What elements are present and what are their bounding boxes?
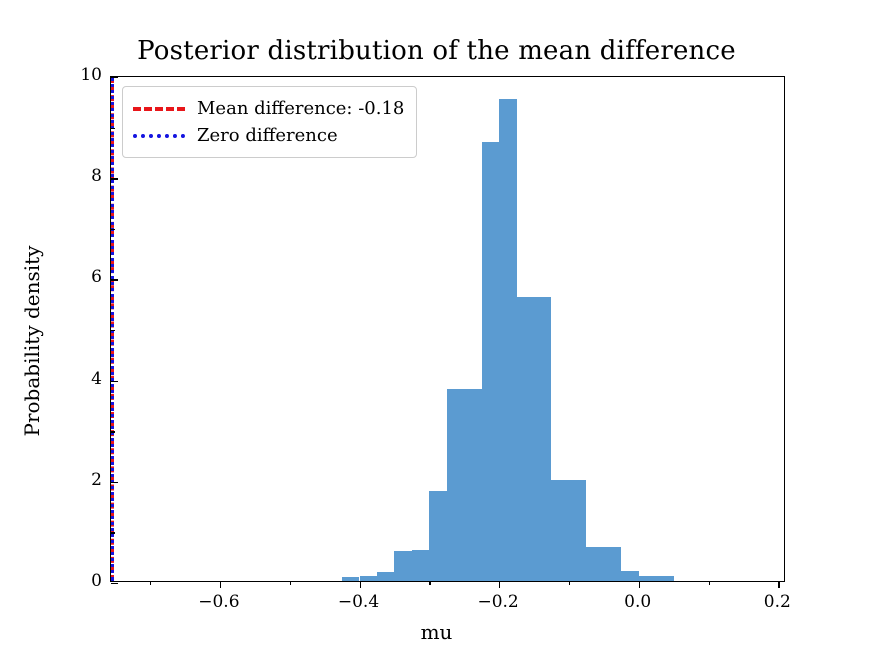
figure-canvas: Posterior distribution of the mean diffe… [0,0,873,653]
y-tick-mark [111,178,118,179]
x-minor-tick-mark [429,581,430,585]
histogram-bar [360,576,377,581]
y-tick-mark [111,583,118,584]
x-tick-label: −0.2 [458,592,538,612]
histogram-bar [534,297,551,581]
histogram-bar [464,389,481,581]
x-minor-tick-mark [569,581,570,585]
histogram-bar [586,547,603,581]
x-minor-tick-mark [709,581,710,585]
histogram-bar [656,576,673,581]
histogram-bar [342,577,359,581]
y-tick-label: 8 [66,166,102,186]
histogram-bar [569,480,586,581]
x-tick-label: 0.2 [737,592,817,612]
histogram-bar [517,297,534,581]
legend-item-label: Zero difference [197,125,338,146]
histogram-bar [377,572,394,581]
histogram-bar [412,550,429,581]
histogram-bar [499,99,516,581]
x-tick-mark [499,581,500,588]
histogram-bar [482,142,499,581]
y-tick-mark [111,482,118,483]
x-tick-mark [220,581,221,588]
y-tick-mark [111,77,118,78]
dotted-line-swatch-icon [133,134,185,138]
zero-difference-line [111,77,114,581]
x-minor-tick-mark [150,581,151,585]
histogram-bar [394,551,411,581]
y-minor-tick-mark [111,330,115,331]
x-tick-label: −0.4 [319,592,399,612]
x-axis-title: mu [0,620,873,644]
y-tick-mark [111,381,118,382]
y-tick-label: 10 [66,65,102,85]
legend-item: Zero difference [133,122,404,149]
y-tick-label: 6 [66,267,102,287]
y-minor-tick-mark [111,532,115,533]
histogram-bar [551,480,568,581]
legend: Mean difference: -0.18 Zero difference [122,86,417,158]
x-tick-label: 0.0 [598,592,678,612]
x-tick-mark [778,581,779,588]
y-minor-tick-mark [111,431,115,432]
histogram-bar [429,491,446,581]
x-tick-mark [360,581,361,588]
histogram-bar [447,389,464,581]
x-tick-label: −0.6 [179,592,259,612]
x-minor-tick-mark [290,581,291,585]
histogram-bar [621,571,638,581]
y-axis-title: Probability density [20,121,44,561]
chart-title: Posterior distribution of the mean diffe… [0,36,873,66]
legend-item-label: Mean difference: -0.18 [197,98,404,119]
histogram-bar [639,576,656,581]
x-tick-mark [639,581,640,588]
y-minor-tick-mark [111,229,115,230]
y-tick-label: 4 [66,369,102,389]
legend-item: Mean difference: -0.18 [133,95,404,122]
dashed-line-swatch-icon [133,107,185,111]
histogram-bar [604,547,621,581]
y-tick-label: 0 [66,571,102,591]
y-tick-label: 2 [66,470,102,490]
y-minor-tick-mark [111,128,115,129]
y-tick-mark [111,279,118,280]
